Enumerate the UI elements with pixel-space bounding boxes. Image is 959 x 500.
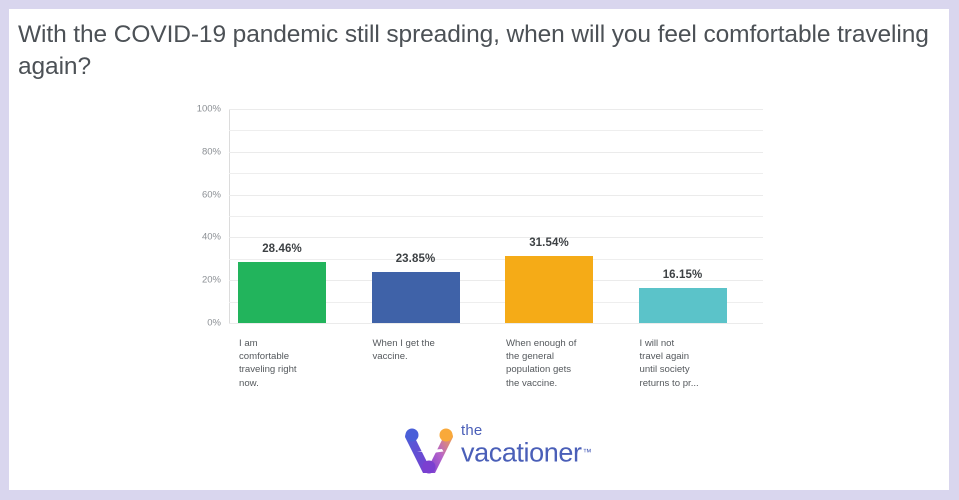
page-background: With the COVID-19 pandemic still spreadi… [0, 0, 959, 500]
vacationer-plane-mark-icon [401, 421, 457, 477]
bar-slot: 31.54% [505, 109, 593, 323]
y-axis-tick-label: 100% [197, 104, 221, 115]
bar-value-label: 23.85% [372, 253, 460, 265]
bar-slot: 28.46% [238, 109, 326, 323]
bar-value-label: 28.46% [238, 243, 326, 255]
logo-trademark-symbol: ™ [583, 447, 592, 457]
bar-slot: 16.15% [639, 109, 727, 323]
vacationer-wordmark: the vacationer™ [461, 423, 611, 471]
y-axis-tick-label: 20% [202, 275, 221, 286]
x-axis-category-label: When I get the vaccine. [373, 337, 481, 363]
bar[interactable] [639, 288, 727, 323]
bar[interactable] [238, 262, 326, 323]
y-axis-tick-label: 40% [202, 232, 221, 243]
bar[interactable] [372, 272, 460, 323]
bar-value-label: 31.54% [505, 237, 593, 249]
logo-name-text: vacationer [461, 437, 582, 467]
bar-value-label: 16.15% [639, 269, 727, 281]
logo-name-wrap: vacationer™ [461, 438, 611, 471]
y-axis-tick-label: 60% [202, 189, 221, 200]
chart-card: With the COVID-19 pandemic still spreadi… [9, 9, 949, 490]
x-axis-category-label: I am comfortable traveling right now. [239, 337, 347, 390]
x-axis-category-label: When enough of the general population ge… [506, 337, 614, 390]
vacationer-logo: the vacationer™ [401, 419, 611, 479]
y-axis-tick-label: 0% [207, 318, 221, 329]
plot-area: 0%20%40%60%80%100% 28.46%23.85%31.54%16.… [229, 109, 763, 323]
bar[interactable] [505, 256, 593, 323]
bar-chart: 0%20%40%60%80%100% 28.46%23.85%31.54%16.… [9, 9, 949, 490]
gridline [229, 323, 763, 324]
y-axis-tick-label: 80% [202, 146, 221, 157]
x-axis-category-label: I will not travel again until society re… [640, 337, 748, 390]
bar-slot: 23.85% [372, 109, 460, 323]
logo-the-text: the [461, 423, 611, 438]
